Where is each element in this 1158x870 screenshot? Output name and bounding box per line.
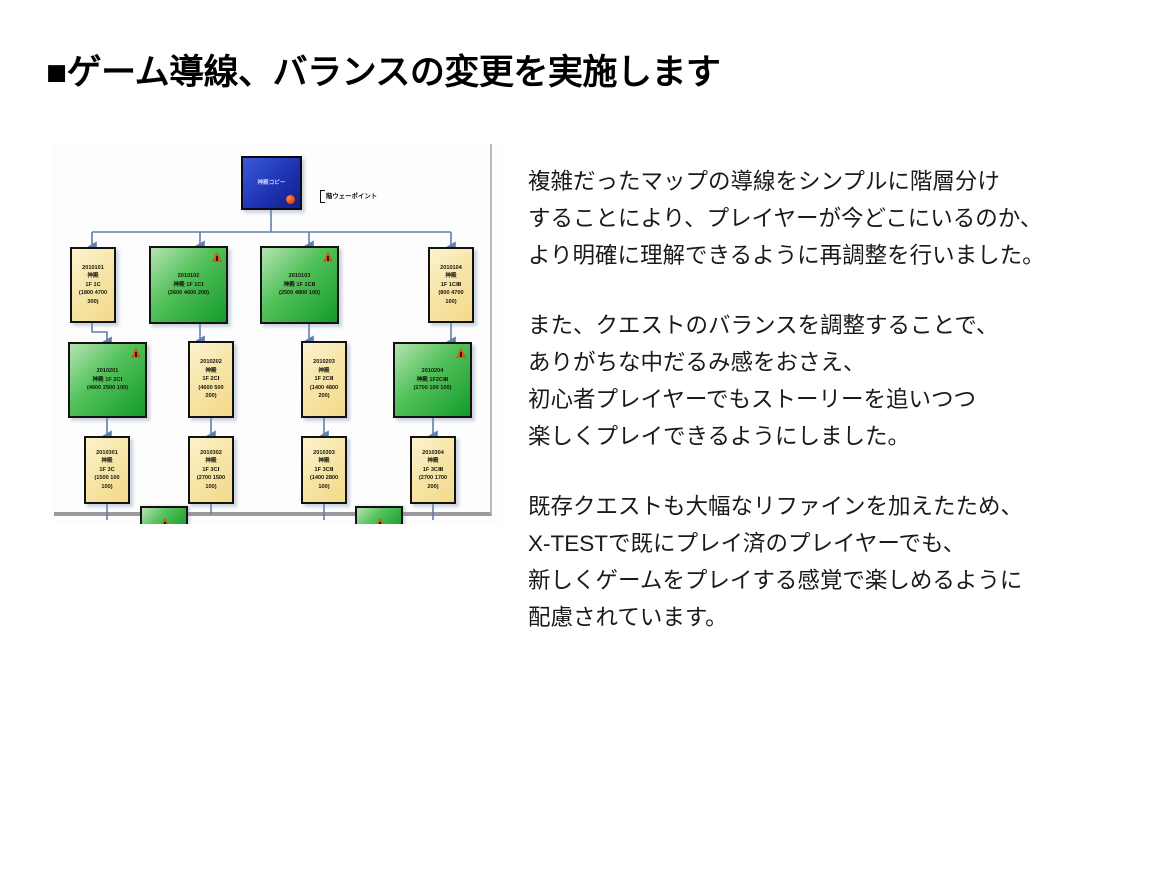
node-line: 100) [205, 483, 216, 491]
node-line: 神殿 1F 1CⅡ [284, 281, 316, 289]
diagram-node-2010201[interactable]: 2010201 神殿 1F 2CⅠ (4600 2500 100) [68, 342, 147, 418]
paragraph-line: 既存クエストも大幅なリファインを加えたため、 [528, 488, 1148, 525]
node-line: (800 4700 [438, 289, 463, 297]
node-line: (2700 1700 [419, 474, 447, 482]
node-line: 2010202 [200, 358, 222, 366]
node-line: (4600 500 [198, 384, 223, 392]
node-line: 1F 3CⅠ [202, 466, 219, 474]
warning-triangle-icon [375, 518, 385, 524]
node-line: 2010204 [422, 367, 444, 375]
diagram-node-row4-a[interactable] [140, 506, 188, 524]
node-line: 神殿 1F 2CⅠ [92, 376, 122, 384]
node-line: (1800 4700 [79, 289, 107, 297]
waypoint-callout: 階ウェーポイント [320, 189, 377, 203]
node-line: 1F 1C [85, 281, 100, 289]
body-copy: 複雑だったマップの導線をシンプルに階層分け することにより、プレイヤーが今どこに… [528, 163, 1148, 636]
node-line: 1F 3CⅡ [315, 466, 334, 474]
node-line: 神殿 1F2CⅢ [417, 376, 449, 384]
diagram-figure: 神殿コピー 階ウェーポイント 2010101 神殿 1F 1C (1800 47… [52, 142, 502, 524]
node-line: 2010101 [82, 264, 104, 272]
node-line: 神殿 [205, 367, 216, 375]
paragraph-line: また、クエストのバランスを調整することで、 [528, 307, 1148, 344]
diagram-node-2010102[interactable]: 2010102 神殿 1F 1CⅠ (2600 4600 200) [149, 246, 228, 324]
paragraph-1: 複雑だったマップの導線をシンプルに階層分け することにより、プレイヤーが今どこに… [528, 163, 1148, 274]
paragraph-line: することにより、プレイヤーが今どこにいるのか、 [528, 200, 1148, 237]
node-line: (2500 4800 100) [279, 289, 320, 297]
node-line: 2010102 [178, 272, 200, 280]
paragraph-line: X-TESTで既にプレイ済のプレイヤーでも、 [528, 525, 1148, 562]
diagram-node-2010303[interactable]: 2010303 神殿 1F 3CⅡ (1400 2800 100) [301, 436, 347, 504]
node-line: 1F 1CⅢ [441, 281, 462, 289]
node-line: 2010303 [313, 449, 335, 457]
node-line: 神殿 [205, 457, 216, 465]
diagram-node-2010304[interactable]: 2010304 神殿 1F 3CⅢ (2700 1700 200) [410, 436, 456, 504]
paragraph-line: より明確に理解できるように再調整を行いました。 [528, 237, 1148, 274]
node-line: 神殿 [87, 272, 98, 280]
node-line: 200) [205, 392, 216, 400]
node-line: 1F 3C [99, 466, 114, 474]
diagram-node-root[interactable]: 神殿コピー [241, 156, 302, 210]
diagram-node-2010203[interactable]: 2010203 神殿 1F 2CⅡ (1400 4800 200) [301, 341, 347, 418]
node-line: 神殿コピー [258, 179, 286, 187]
node-line: 200) [427, 483, 438, 491]
paragraph-line: ありがちな中だるみ感をおさえ、 [528, 344, 1148, 381]
node-line: 200) [318, 392, 329, 400]
warning-triangle-icon [212, 252, 222, 262]
diagram-node-2010204[interactable]: 2010204 神殿 1F2CⅢ (2700 100 100) [393, 342, 472, 418]
node-line: 2010104 [440, 264, 462, 272]
node-line: (1400 2800 [310, 474, 338, 482]
node-line: 神殿 1F 1CⅠ [173, 281, 203, 289]
node-line: 2010301 [96, 449, 118, 457]
node-line: 2010201 [97, 367, 119, 375]
diagram-node-2010104[interactable]: 2010104 神殿 1F 1CⅢ (800 4700 100) [428, 247, 474, 323]
warning-triangle-icon [131, 348, 141, 358]
node-line: 神殿 [318, 457, 329, 465]
node-line: 2010304 [422, 449, 444, 457]
paragraph-line: 配慮されています。 [528, 599, 1148, 636]
paragraph-line: 複雑だったマップの導線をシンプルに階層分け [528, 163, 1148, 200]
node-line: (2700 100 100) [414, 384, 452, 392]
node-line: 1F 2CⅡ [315, 375, 334, 383]
node-line: 神殿 [427, 457, 438, 465]
node-line: (2700 1500 [197, 474, 225, 482]
node-line: 2010203 [313, 358, 335, 366]
paragraph-3: 既存クエストも大幅なリファインを加えたため、 X-TESTで既にプレイ済のプレイ… [528, 488, 1148, 636]
node-line: 100) [445, 298, 456, 306]
diagram-node-row4-b[interactable] [355, 506, 403, 524]
waypoint-dot-icon [286, 195, 295, 204]
node-line: (2600 4600 200) [168, 289, 209, 297]
diagram-node-2010302[interactable]: 2010302 神殿 1F 3CⅠ (2700 1500 100) [188, 436, 234, 504]
warning-triangle-icon [160, 518, 170, 524]
paragraph-line: 初心者プレイヤーでもストーリーを追いつつ [528, 381, 1148, 418]
node-line: 神殿 [445, 272, 456, 280]
node-line: 2010103 [289, 272, 311, 280]
paragraph-line: 楽しくプレイできるようにしました。 [528, 418, 1148, 455]
node-line: 神殿 [101, 457, 112, 465]
page-title: ■ゲーム導線、バランスの変更を実施します [46, 44, 720, 95]
diagram-canvas: 神殿コピー 階ウェーポイント 2010101 神殿 1F 1C (1800 47… [52, 142, 502, 524]
warning-triangle-icon [323, 252, 333, 262]
diagram-node-2010103[interactable]: 2010103 神殿 1F 1CⅡ (2500 4800 100) [260, 246, 339, 324]
node-line: (4600 2500 100) [87, 384, 128, 392]
paragraph-line: 新しくゲームをプレイする感覚で楽しめるように [528, 562, 1148, 599]
node-line: 300) [87, 298, 98, 306]
paragraph-2: また、クエストのバランスを調整することで、 ありがちな中だるみ感をおさえ、 初心… [528, 307, 1148, 455]
node-line: 100) [101, 483, 112, 491]
node-line: (1400 4800 [310, 384, 338, 392]
diagram-node-2010101[interactable]: 2010101 神殿 1F 1C (1800 4700 300) [70, 247, 116, 323]
node-line: 100) [318, 483, 329, 491]
node-line: 神殿 [318, 367, 329, 375]
warning-triangle-icon [456, 348, 466, 358]
node-line: 1F 3CⅢ [423, 466, 444, 474]
node-line: (1500 100 [94, 474, 119, 482]
diagram-node-2010301[interactable]: 2010301 神殿 1F 3C (1500 100 100) [84, 436, 130, 504]
node-line: 2010302 [200, 449, 222, 457]
waypoint-label: 階ウェーポイント [325, 190, 377, 203]
diagram-node-2010202[interactable]: 2010202 神殿 1F 2CⅠ (4600 500 200) [188, 341, 234, 418]
node-line: 1F 2CⅠ [202, 375, 219, 383]
